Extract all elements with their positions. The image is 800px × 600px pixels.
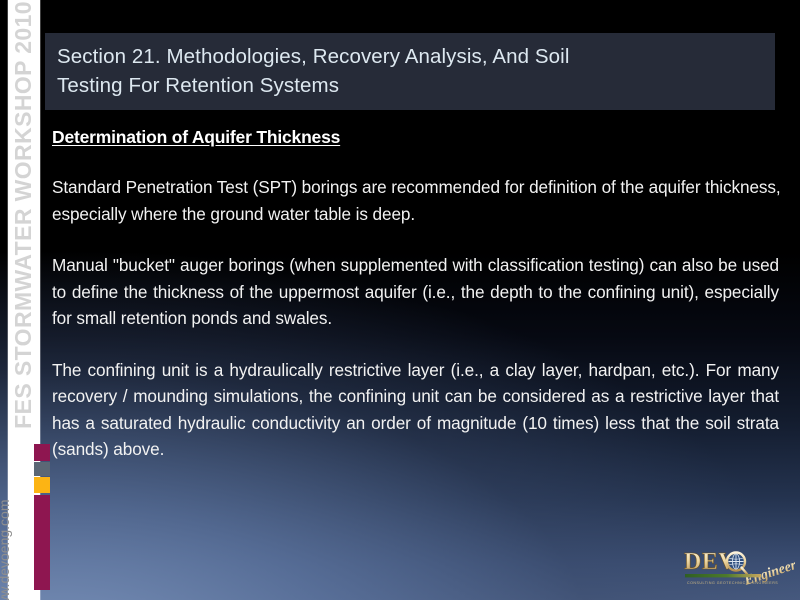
logo-rule (685, 574, 761, 577)
sidebar-swatch-slate (34, 462, 50, 476)
presentation-slide: FES STORMWATER WORKSHOP 2010 www.devoeng… (0, 0, 800, 600)
sidebar-website-url[interactable]: www.devoeng.com (0, 417, 13, 600)
logo-tagline-text: CONSULTING GEOTECHNICAL ENGINEERS (687, 581, 778, 585)
sidebar-swatch-gold (34, 477, 50, 493)
devo-engineering-logo: DEV Engineering CONSULTING GEOTECHNICAL … (683, 545, 795, 595)
slide-title: Section 21. Methodologies, Recovery Anal… (57, 42, 763, 100)
sidebar-workshop-title: FES STORMWATER WORKSHOP 2010 (7, 0, 39, 459)
sidebar-swatch-maroon-top (34, 444, 50, 461)
body-paragraph: Manual "bucket" auger borings (when supp… (52, 252, 779, 332)
sidebar-swatch-maroon-bar (34, 495, 50, 590)
body-paragraph: The confining unit is a hydraulically re… (52, 357, 779, 463)
body-heading: Determination of Aquifer Thickness (52, 126, 782, 148)
slide-body: Determination of Aquifer Thickness Stand… (52, 126, 782, 463)
body-paragraph: Standard Penetration Test (SPT) borings … (52, 174, 782, 227)
slide-title-bar: Section 21. Methodologies, Recovery Anal… (45, 33, 775, 110)
